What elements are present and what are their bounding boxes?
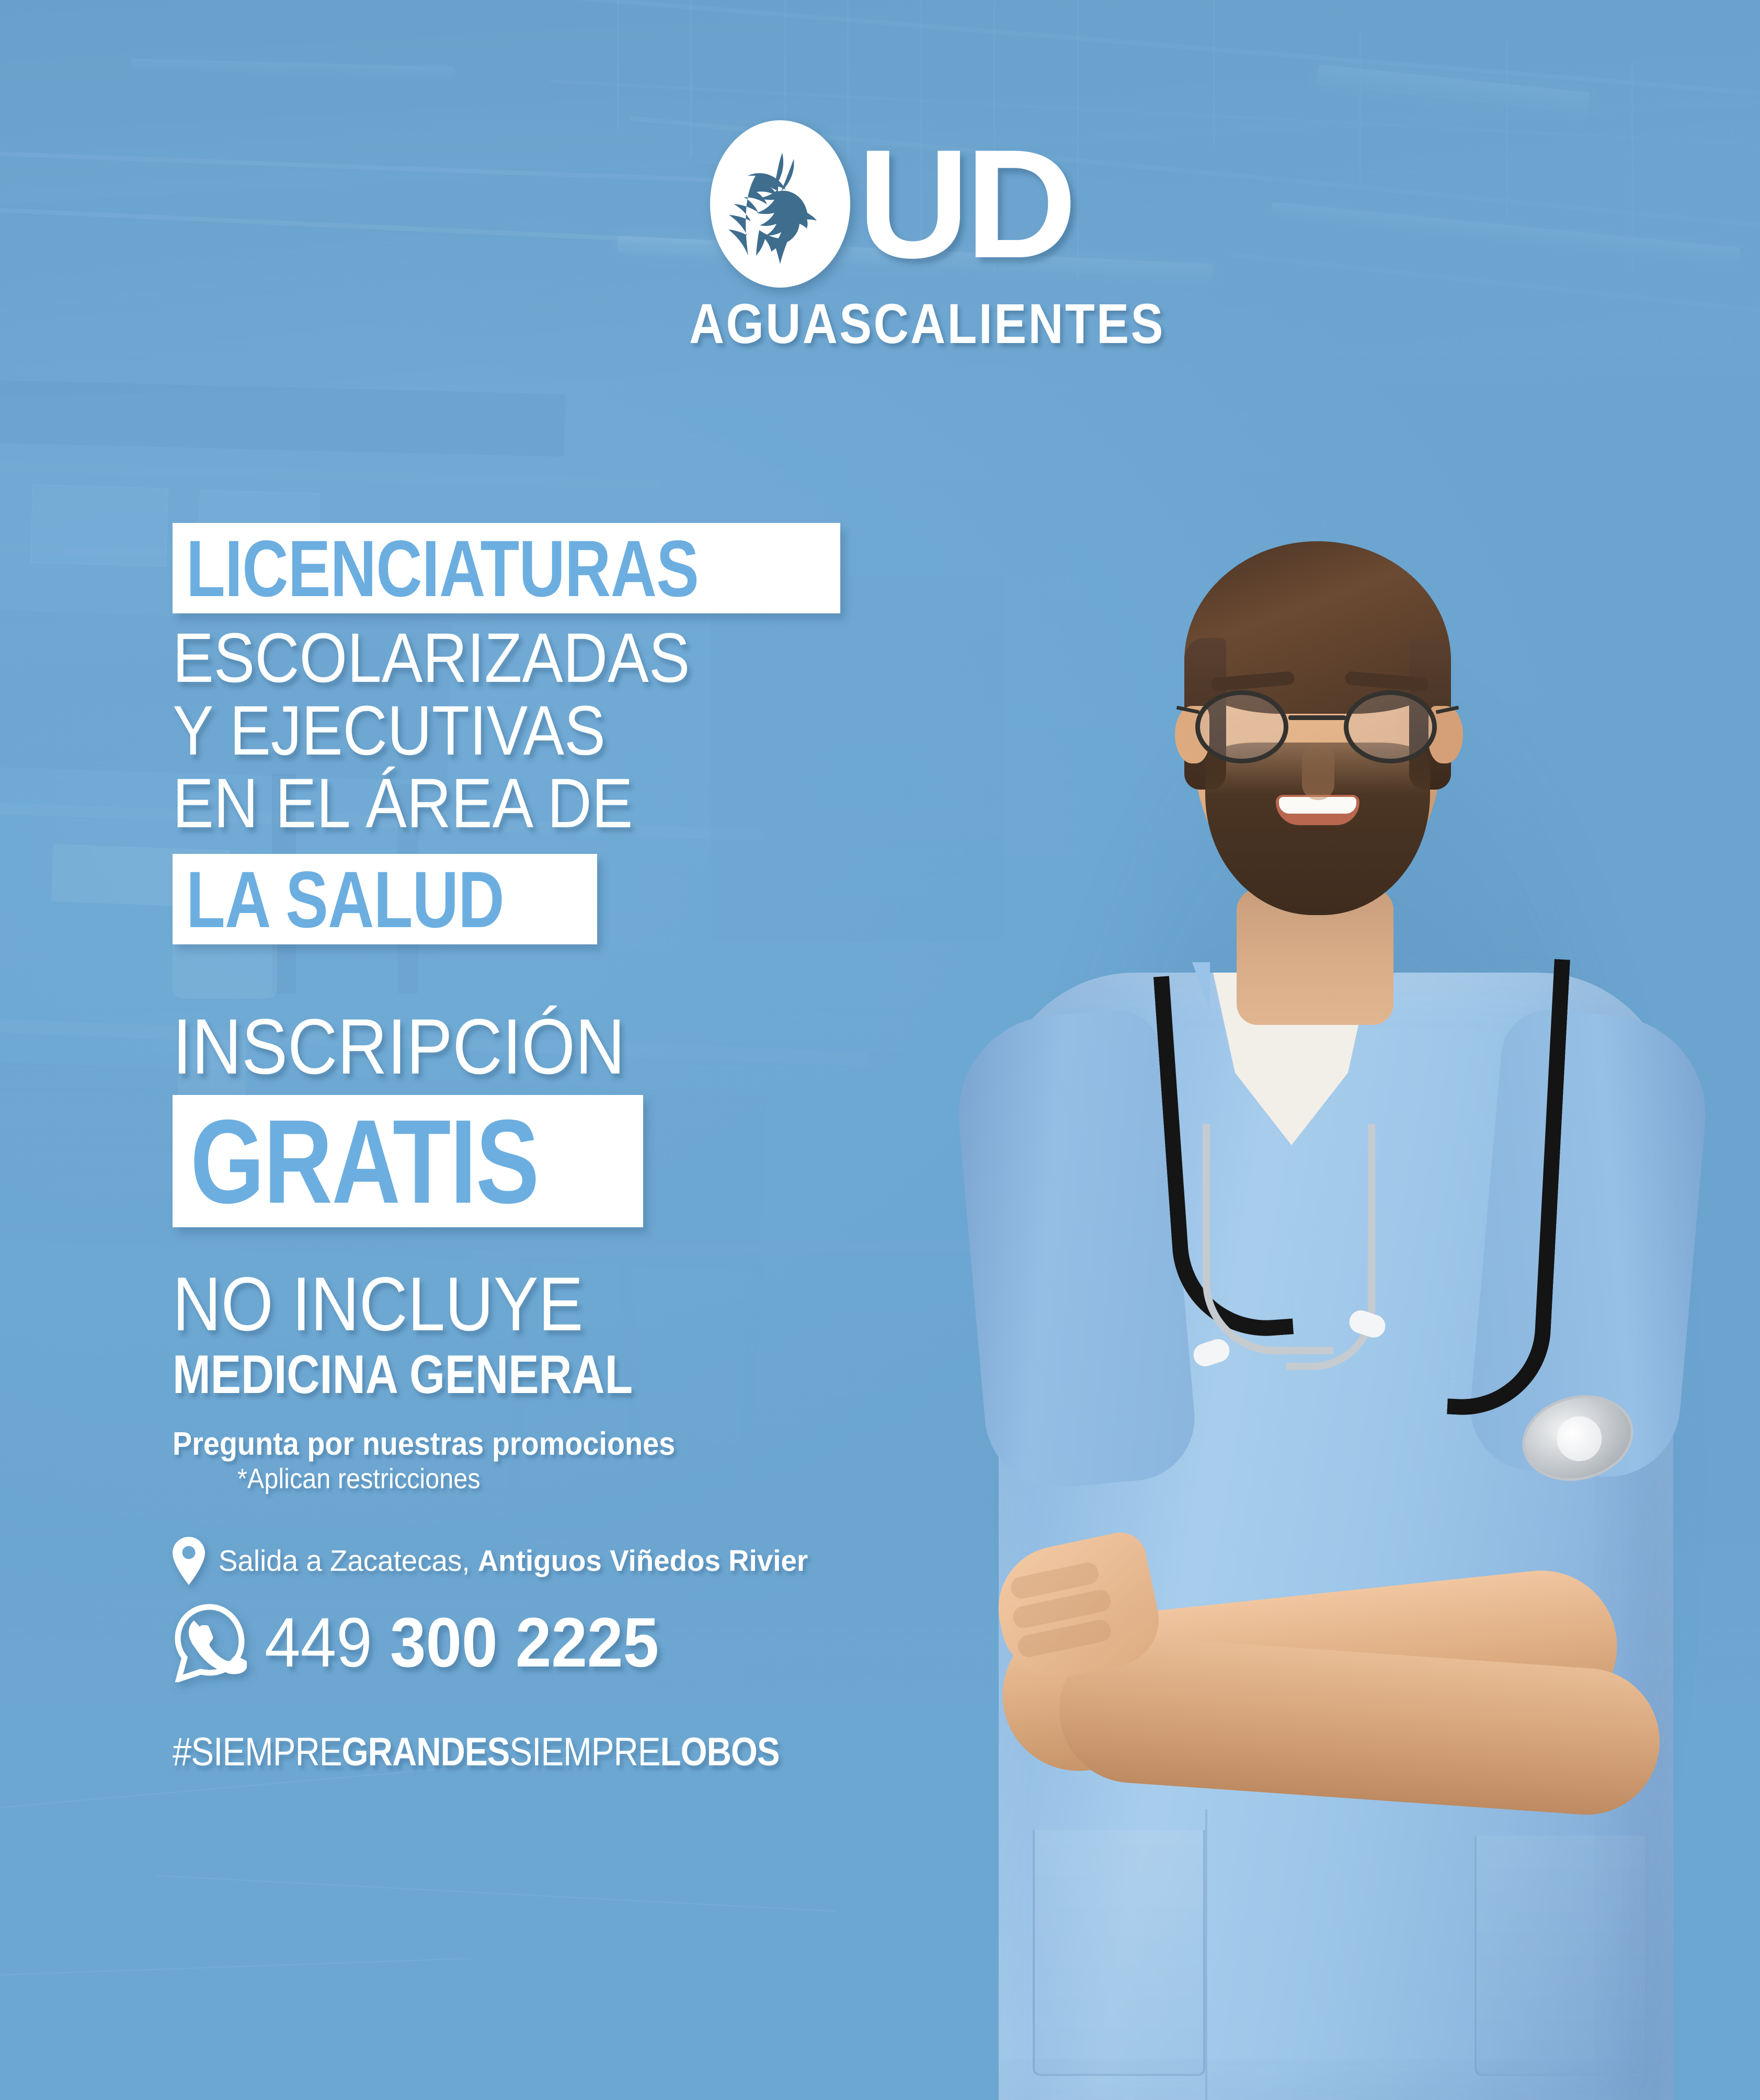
campaign-hashtag: #SIEMPREGRANDESSIEMPRELOBOS <box>173 1732 816 1772</box>
phone-prefix: 449 <box>265 1604 390 1682</box>
address-row[interactable]: Salida a Zacatecas, Antiguos Viñedos Riv… <box>173 1537 920 1585</box>
whatsapp-icon <box>173 1604 247 1682</box>
hashtag-part-siempre-1: SIEMPRE <box>191 1730 342 1774</box>
address-bold: Antiguos Viñedos Rivier <box>478 1544 808 1578</box>
crease-line <box>157 1875 836 1912</box>
logo-main-row: UD <box>656 120 1127 288</box>
headline-y-ejecutivas: Y EJECUTIVAS <box>173 694 830 767</box>
hashtag-symbol: # <box>173 1730 191 1774</box>
doctor-photo-subject <box>920 429 1760 2100</box>
crease-line <box>0 1958 471 1975</box>
exclusion-no-incluye: NO INCLUYE <box>173 1266 830 1342</box>
hashtag-part-lobos: LOBOS <box>660 1730 780 1774</box>
promo-text: Pregunta por nuestras promociones <box>173 1426 845 1462</box>
exclusion-medicina-general: MEDICINA GENERAL <box>173 1348 801 1402</box>
hashtag-part-grandes: GRANDES <box>342 1730 510 1774</box>
logo-subtitle-aguascalientes: AGUASCALIENTES <box>689 291 1094 356</box>
offer-band-gratis: GRATIS <box>173 1095 643 1227</box>
headline-band-licenciaturas: LICENCIATURAS <box>173 523 840 613</box>
offer-label-inscripcion: INSCRIPCIÓN <box>173 1007 830 1086</box>
address-text: Salida a Zacatecas, Antiguos Viñedos Riv… <box>219 1545 808 1578</box>
scrubs-pocket-right <box>1475 1835 1647 2076</box>
offer-highlight-gratis: GRATIS <box>190 1109 539 1216</box>
scrubs-center-seam <box>1205 1809 1207 2100</box>
eyeglass-bridge <box>1288 715 1346 720</box>
address-plain: Salida a Zacatecas, <box>219 1544 478 1578</box>
headline-en-el-area-de: EN EL ÁREA DE <box>173 767 830 840</box>
eyeglass-lens-left <box>1195 690 1288 763</box>
headline-band-la-salud: LA SALUD <box>173 854 597 944</box>
disclaimer-text: *Aplican restricciones <box>237 1462 852 1496</box>
promotional-poster: UD AGUASCALIENTES LICENCIATURAS ESCOLARI… <box>0 0 1760 2100</box>
eyeglass-lens-right <box>1344 690 1437 763</box>
phone-main: 300 2225 <box>390 1604 659 1682</box>
headline-escolarizadas: ESCOLARIZADAS <box>173 622 830 694</box>
copy-column: LICENCIATURAS ESCOLARIZADAS Y EJECUTIVAS… <box>173 523 920 1772</box>
logo-wordmark-ud: UD <box>858 139 1073 269</box>
map-pin-icon <box>173 1537 205 1585</box>
eyeglasses <box>1192 690 1443 763</box>
wolf-head-icon <box>710 120 850 288</box>
headline-la-salud: LA SALUD <box>186 863 504 937</box>
whatsapp-row[interactable]: 449 300 2225 <box>173 1604 920 1682</box>
scrubs-pocket-left <box>1033 1830 1205 2076</box>
hashtag-part-siempre-2: SIEMPRE <box>509 1730 660 1774</box>
headline-licenciaturas: LICENCIATURAS <box>186 532 699 606</box>
phone-number: 449 300 2225 <box>265 1608 659 1678</box>
ud-aguascalientes-logo: UD AGUASCALIENTES <box>656 120 1127 350</box>
